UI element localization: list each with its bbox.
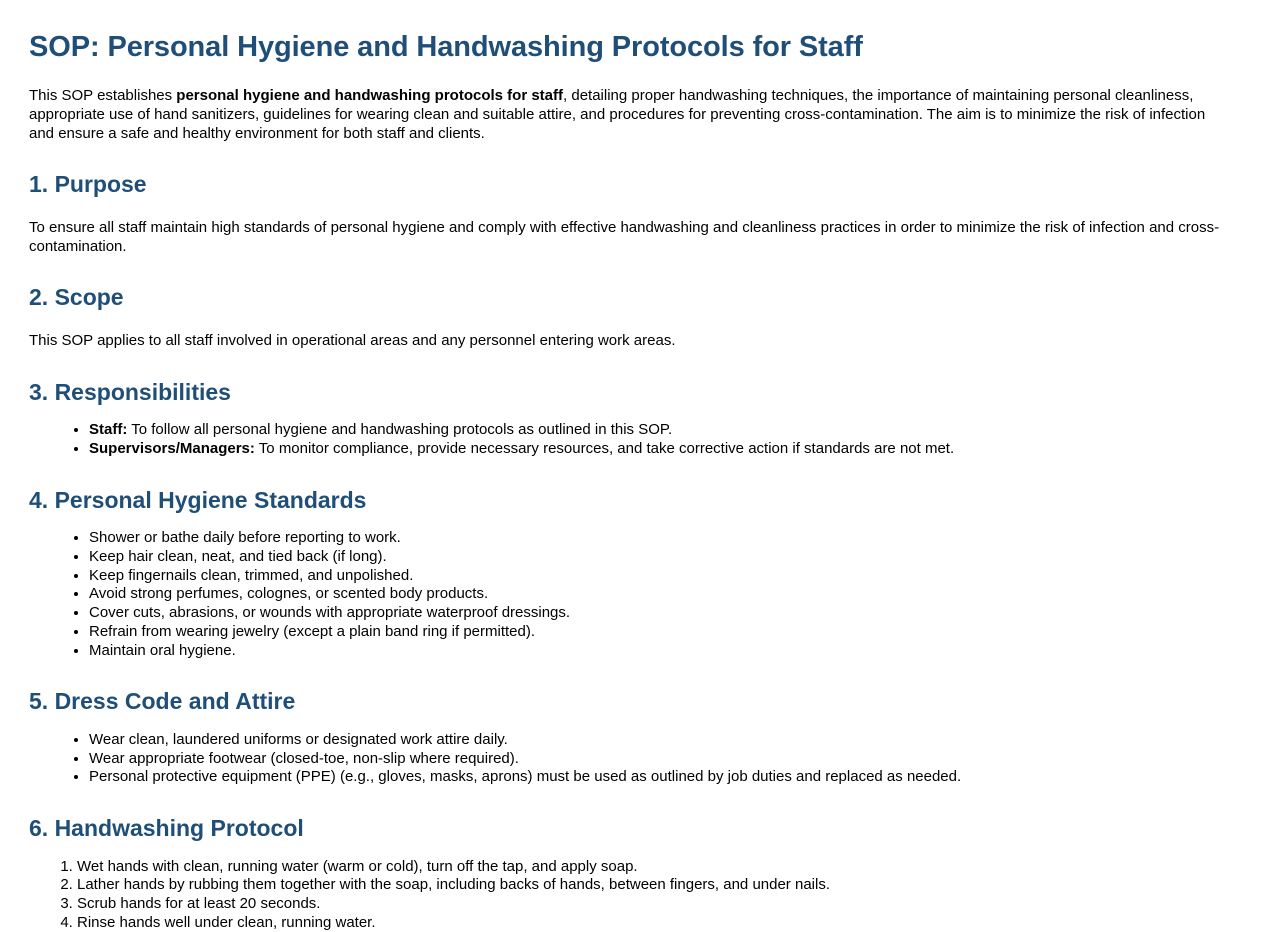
list-item: Cover cuts, abrasions, or wounds with ap… — [89, 604, 1222, 623]
list-item: Wear appropriate footwear (closed-toe, n… — [89, 750, 1222, 769]
heading-spacer — [29, 312, 1222, 332]
intro-text-before-bold: This SOP establishes — [29, 87, 176, 104]
list-item: Wet hands with clean, running water (war… — [77, 858, 1222, 877]
section-heading-purpose: 1. Purpose — [29, 171, 1222, 199]
list-item: Avoid strong perfumes, colognes, or scen… — [89, 585, 1222, 604]
list-item-text: To monitor compliance, provide necessary… — [255, 440, 954, 457]
list-item: Personal protective equipment (PPE) (e.g… — [89, 768, 1222, 787]
intro-paragraph: This SOP establishes personal hygiene an… — [29, 64, 1222, 143]
section-spacer — [29, 143, 1222, 171]
list-item: Staff: To follow all personal hygiene an… — [89, 421, 1222, 440]
list-item-term: Staff: — [89, 421, 127, 438]
intro-bold-phrase: personal hygiene and handwashing protoco… — [176, 87, 563, 104]
dress-code-list: Wear clean, laundered uniforms or design… — [29, 716, 1222, 787]
responsibilities-list: Staff: To follow all personal hygiene an… — [29, 406, 1222, 458]
section-heading-responsibilities: 3. Responsibilities — [29, 379, 1222, 407]
section-spacer — [29, 351, 1222, 379]
list-item: Keep fingernails clean, trimmed, and unp… — [89, 567, 1222, 586]
section-heading-personal-hygiene-standards: 4. Personal Hygiene Standards — [29, 487, 1222, 515]
list-item: Keep hair clean, neat, and tied back (if… — [89, 548, 1222, 567]
section-heading-handwashing-protocol: 6. Handwashing Protocol — [29, 815, 1222, 843]
heading-spacer — [29, 199, 1222, 219]
document-page: SOP: Personal Hygiene and Handwashing Pr… — [0, 0, 1263, 932]
section-paragraph-purpose: To ensure all staff maintain high standa… — [29, 219, 1222, 256]
section-spacer — [29, 787, 1222, 815]
list-item: Refrain from wearing jewelry (except a p… — [89, 623, 1222, 642]
list-item-text: To follow all personal hygiene and handw… — [127, 421, 672, 438]
list-item: Shower or bathe daily before reporting t… — [89, 529, 1222, 548]
section-heading-dress-code: 5. Dress Code and Attire — [29, 688, 1222, 716]
list-item: Wear clean, laundered uniforms or design… — [89, 731, 1222, 750]
handwashing-protocol-list: Wet hands with clean, running water (war… — [29, 843, 1222, 932]
list-item: Lather hands by rubbing them together wi… — [77, 876, 1222, 895]
list-item: Rinse hands well under clean, running wa… — [77, 914, 1222, 932]
section-spacer — [29, 459, 1222, 487]
list-item-term: Supervisors/Managers: — [89, 440, 255, 457]
list-item: Scrub hands for at least 20 seconds. — [77, 895, 1222, 914]
section-paragraph-scope: This SOP applies to all staff involved i… — [29, 332, 1222, 351]
list-item: Supervisors/Managers: To monitor complia… — [89, 440, 1222, 459]
personal-hygiene-list: Shower or bathe daily before reporting t… — [29, 514, 1222, 660]
section-spacer — [29, 256, 1222, 284]
page-title: SOP: Personal Hygiene and Handwashing Pr… — [29, 0, 1222, 64]
section-spacer — [29, 660, 1222, 688]
list-item: Maintain oral hygiene. — [89, 642, 1222, 661]
section-heading-scope: 2. Scope — [29, 284, 1222, 312]
